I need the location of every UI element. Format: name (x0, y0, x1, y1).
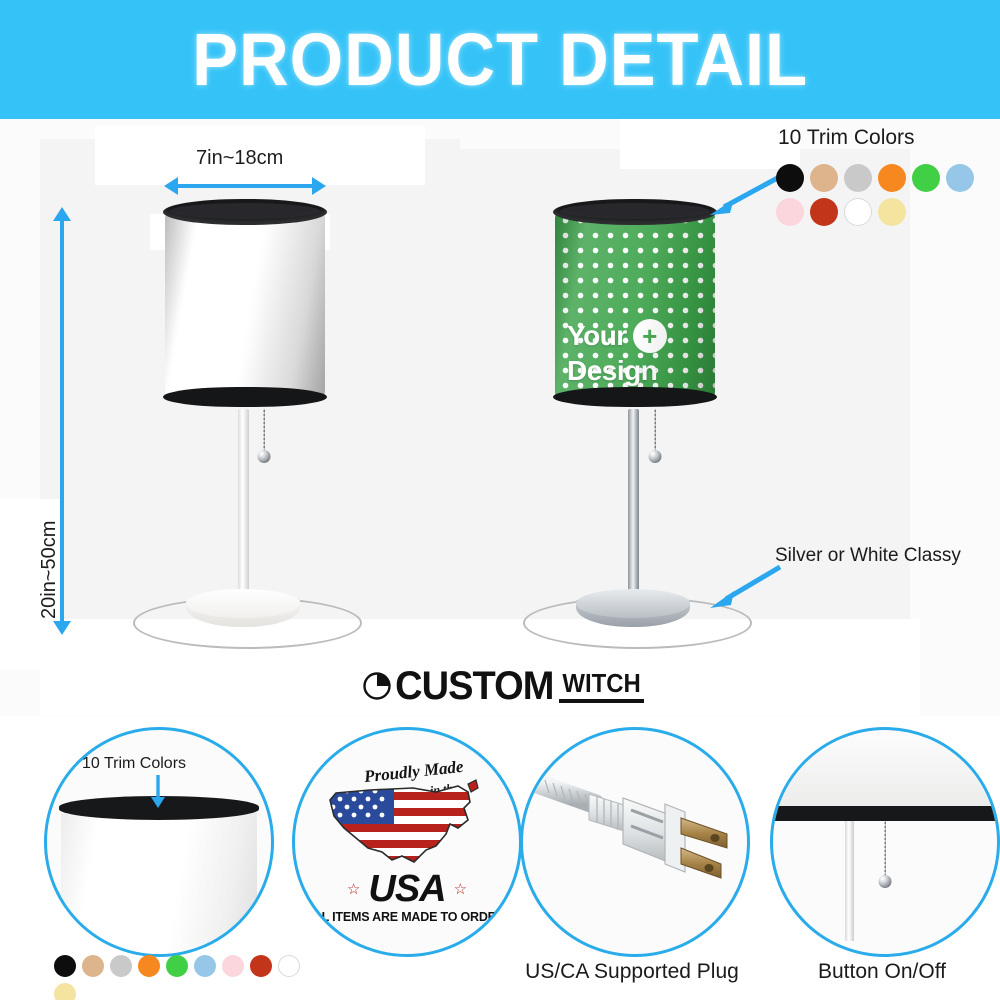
green-lamp-shade[interactable]: Your + Design (555, 199, 715, 407)
chain-knob-icon (258, 450, 271, 463)
page-title: PRODUCT DETAIL (192, 23, 808, 97)
trim-swatch-green[interactable] (912, 164, 940, 192)
button-panel-shade-preview (770, 738, 999, 806)
brand-word-witch: WITCH (562, 670, 640, 696)
usa-badge: Proudly Made in the (295, 730, 519, 954)
brand-logo: CUSTOM WITCH (0, 655, 1000, 717)
header-banner: PRODUCT DETAIL (0, 0, 1000, 119)
shade-sheen (165, 209, 325, 401)
trim-swatch-yellow[interactable] (54, 983, 76, 1000)
white-lamp-shade (165, 199, 325, 407)
trim-swatch-yellow[interactable] (878, 198, 906, 226)
trim-colors-callout-label: 10 Trim Colors (778, 126, 915, 150)
usa-map-flag-icon (318, 776, 498, 872)
green-lamp-pole (628, 409, 639, 609)
trim-swatch-tan[interactable] (82, 955, 104, 977)
base-top (186, 589, 300, 618)
trim-swatch-pink[interactable] (222, 955, 244, 977)
panel-plug-caption: US/CA Supported Plug (500, 960, 764, 984)
trim-swatch-light-blue[interactable] (194, 955, 216, 977)
add-design-plus-icon[interactable]: + (633, 319, 667, 353)
brand-underline (559, 699, 644, 703)
panel-button-caption: Button On/Off (760, 960, 1000, 984)
button-panel-trim-band (770, 806, 1000, 821)
button-panel-pole (845, 821, 854, 941)
trim-swatch-white[interactable] (844, 198, 872, 226)
chain-knob-icon (879, 875, 892, 888)
shade-body (165, 209, 325, 401)
usa-badge-subtext: ALL ITEMS ARE MADE TO ORDER! (305, 910, 508, 924)
plug-illustration (523, 730, 747, 954)
panel-plug-circle (520, 727, 750, 957)
product-detail-page: PRODUCT DETAIL 7in~18cm 20in~50cm (0, 0, 1000, 1000)
trim-swatch-black[interactable] (776, 164, 804, 192)
brand-witch-block: WITCH (559, 670, 644, 703)
chain-icon (263, 409, 265, 454)
design-text-line-1: Your (567, 320, 627, 352)
trim-swatch-orange[interactable] (138, 955, 160, 977)
chain-icon (654, 409, 656, 454)
trim-swatch-red[interactable] (810, 198, 838, 226)
shade-body: Your + Design (555, 209, 715, 401)
base-top (576, 589, 690, 618)
button-panel-pull-chain[interactable] (878, 821, 892, 879)
base-finish-callout-arrow-icon (700, 559, 790, 614)
trim-swatch-green[interactable] (166, 955, 188, 977)
brand-word-custom: CUSTOM (395, 666, 553, 706)
brand-c-mark-icon (356, 667, 394, 705)
bottom-panels: 10 Trim Colors Proudly Made in the (0, 717, 1000, 1000)
chain-icon (884, 821, 886, 879)
usa-star-right-icon: ☆ (454, 880, 467, 898)
trim-swatch-orange[interactable] (878, 164, 906, 192)
shade-trim-bottom (553, 387, 717, 407)
white-lamp-pole (238, 409, 249, 609)
trim-colors-shade-preview (61, 808, 257, 957)
white-lamp-base (186, 589, 300, 637)
green-lamp-base (576, 589, 690, 637)
trim-swatch-pink[interactable] (776, 198, 804, 226)
trim-swatch-black[interactable] (54, 955, 76, 977)
usa-star-left-icon: ☆ (347, 880, 360, 898)
trim-swatch-light-blue[interactable] (946, 164, 974, 192)
trim-colors-down-arrow-icon (147, 775, 169, 809)
usa-badge-word: USA (368, 870, 445, 908)
trim-color-swatches-bottom[interactable] (54, 955, 304, 1000)
base-finish-callout-label: Silver or White Classy (775, 545, 961, 567)
trim-swatch-grey[interactable] (844, 164, 872, 192)
trim-color-swatches-top[interactable] (776, 164, 1000, 226)
main-stage: 7in~18cm 20in~50cm (0, 119, 1000, 715)
trim-swatch-tan[interactable] (810, 164, 838, 192)
white-lamp-pull-chain[interactable] (257, 409, 271, 454)
trim-swatch-red[interactable] (250, 955, 272, 977)
panel-button-circle (770, 727, 1000, 957)
chain-knob-icon (649, 450, 662, 463)
design-text-line-2: Design (567, 355, 707, 387)
panel-made-in-usa-circle: Proudly Made in the (292, 727, 522, 957)
trim-swatch-grey[interactable] (110, 955, 132, 977)
green-lamp-pull-chain[interactable] (648, 409, 662, 454)
shade-trim-top (163, 199, 327, 225)
white-lamp (0, 119, 420, 649)
panel-trim-colors-label: 10 Trim Colors (82, 755, 186, 773)
trim-swatch-white[interactable] (278, 955, 300, 977)
shade-trim-bottom (163, 387, 327, 407)
